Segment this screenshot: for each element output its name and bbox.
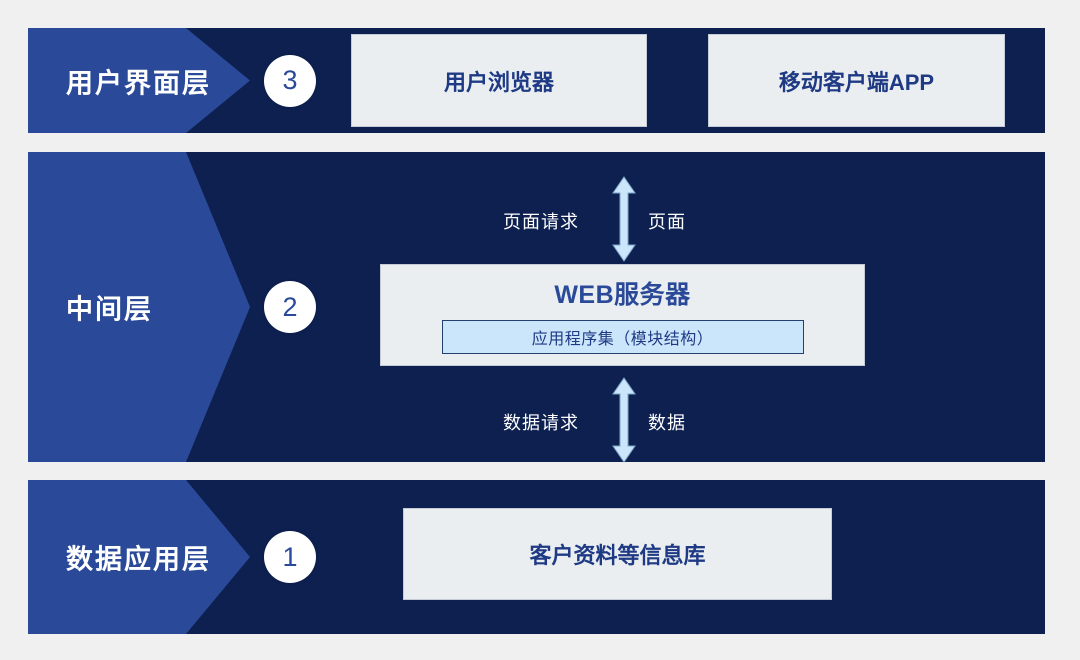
node-customer-database[interactable]: 客户资料等信息库 [403, 508, 832, 600]
data-request-double-arrow-icon [612, 377, 636, 463]
node-user-browser[interactable]: 用户浏览器 [351, 34, 647, 127]
node-web-server-title: WEB服务器 [554, 275, 690, 311]
layer-badge-data: 1 [264, 531, 316, 583]
page-request-double-arrow-icon [612, 176, 636, 262]
node-mobile-app[interactable]: 移动客户端APP [708, 34, 1005, 127]
layer-title-middle: 中间层 [66, 288, 153, 327]
node-application-module[interactable]: 应用程序集（模块结构） [442, 320, 804, 354]
node-mobile-app-label: 移动客户端APP [779, 65, 934, 97]
data-response-label: 数据 [648, 409, 686, 435]
node-customer-database-label: 客户资料等信息库 [529, 538, 705, 570]
page-response-label: 页面 [648, 208, 686, 234]
layer-badge-middle: 2 [264, 281, 316, 333]
node-web-server[interactable]: WEB服务器 应用程序集（模块结构） [380, 264, 865, 366]
layer-title-ui: 用户界面层 [66, 61, 211, 100]
layer-badge-ui: 3 [264, 55, 316, 107]
layer-title-data: 数据应用层 [66, 538, 211, 577]
node-user-browser-label: 用户浏览器 [444, 65, 554, 97]
page-request-label: 页面请求 [503, 208, 579, 234]
diagram-canvas: 用户界面层 3 用户浏览器 移动客户端APP 中间层 2 页面请求 页面 WEB… [0, 0, 1080, 660]
data-request-label: 数据请求 [503, 409, 579, 435]
